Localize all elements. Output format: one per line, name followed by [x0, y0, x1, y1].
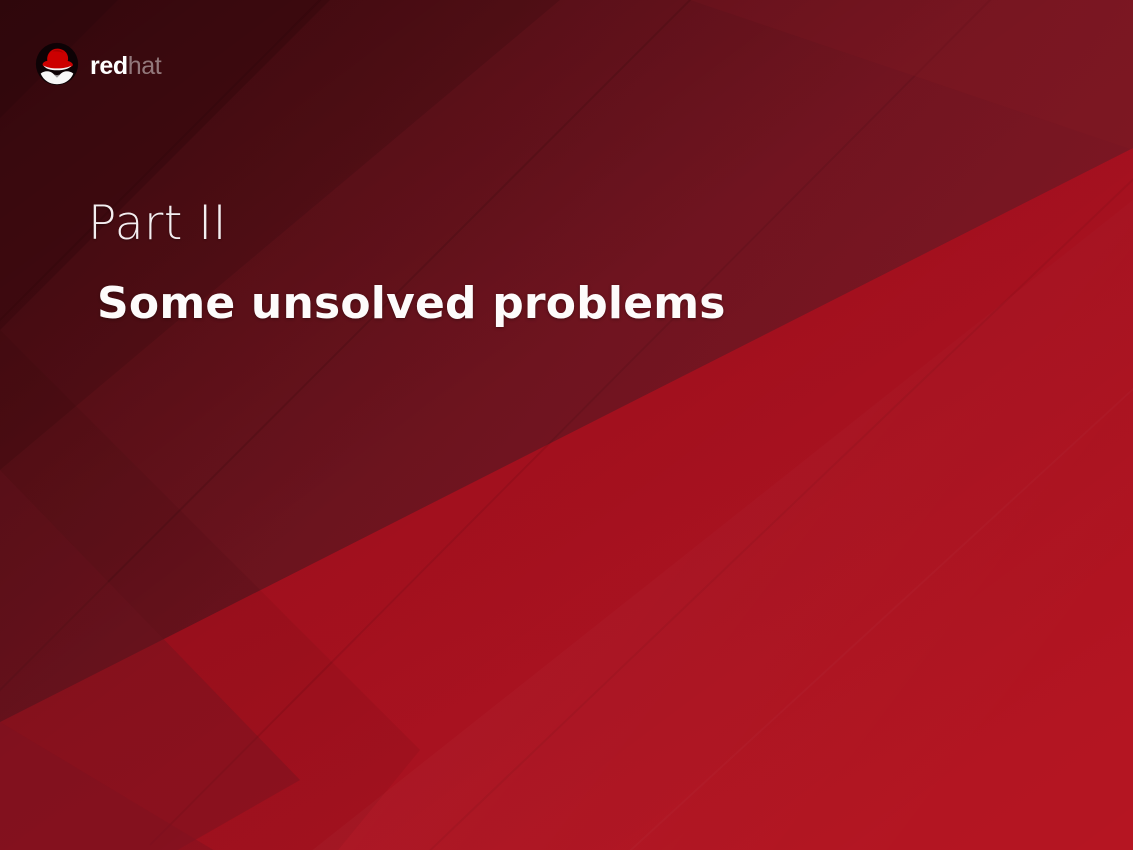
- wordmark-hat: hat: [128, 52, 162, 80]
- bg-vignette: [0, 0, 1133, 850]
- title-block: Part II Some unsolved problems: [88, 198, 726, 328]
- slide-canvas: redhat Part II Some unsolved problems: [0, 0, 1133, 850]
- part-title: Some unsolved problems: [97, 280, 726, 328]
- wordmark-red: red: [90, 52, 128, 80]
- part-label: Part II: [88, 198, 726, 250]
- background-artwork: [0, 0, 1133, 850]
- redhat-logo: redhat: [33, 40, 161, 90]
- redhat-wordmark: redhat: [90, 54, 161, 79]
- redhat-shadowman-icon: [33, 40, 81, 90]
